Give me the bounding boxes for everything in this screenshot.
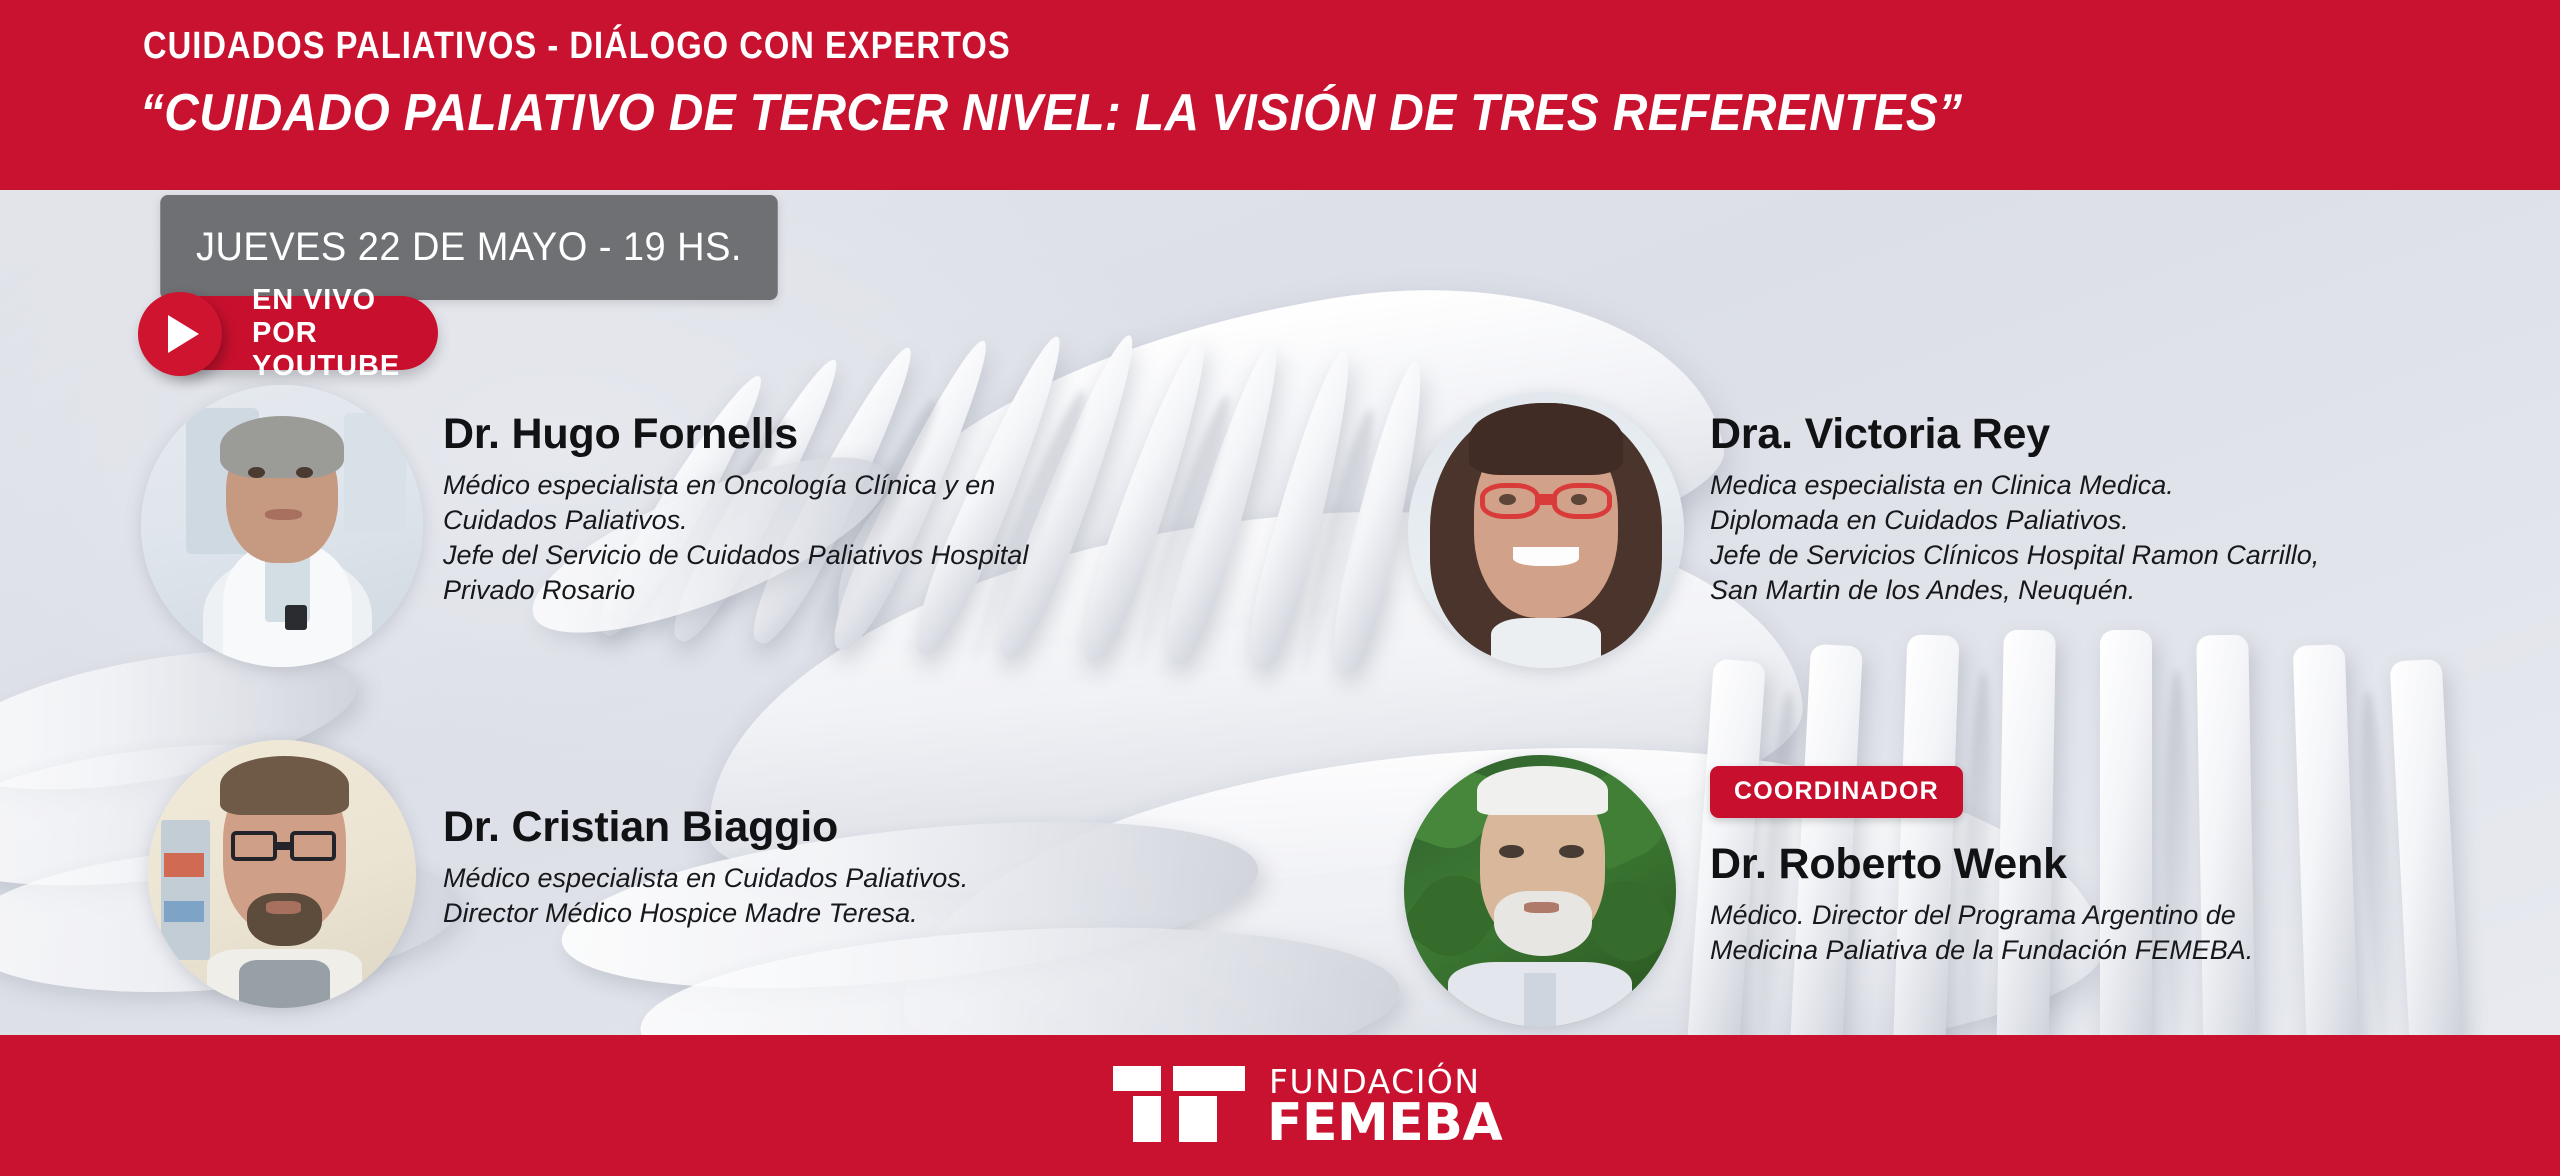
bio-line: Médico. Director del Programa Argentino … [1710, 898, 2253, 933]
bio-line: Medicina Paliativa de la Fundación FEMEB… [1710, 933, 2253, 968]
speaker-name: Dr. Hugo Fornells [443, 410, 798, 459]
femeba-tt-mark-icon [1113, 1060, 1261, 1142]
bio-line: Diplomada en Cuidados Paliativos. [1710, 503, 2319, 538]
speaker-name: Dr. Roberto Wenk [1710, 840, 2067, 889]
bio-line: Privado Rosario [443, 573, 1028, 608]
kicker-text: CUIDADOS PALIATIVOS - DIÁLOGO CON EXPERT… [143, 25, 1011, 68]
bio-line: Jefe de Servicios Clínicos Hospital Ramo… [1710, 538, 2319, 573]
speaker-name: Dr. Cristian Biaggio [443, 803, 838, 852]
bio-line: Jefe del Servicio de Cuidados Paliativos… [443, 538, 1028, 573]
avatar [141, 385, 423, 667]
speaker-name: Dra. Victoria Rey [1710, 410, 2050, 459]
status-badge: COORDINADOR [1710, 766, 1963, 818]
bio-line: Medica especialista en Clinica Medica. [1710, 468, 2319, 503]
speaker-bio: Médico especialista en Cuidados Paliativ… [443, 861, 968, 931]
bio-line: Cuidados Paliativos. [443, 503, 1028, 538]
bio-line: Director Médico Hospice Madre Teresa. [443, 896, 968, 931]
play-icon[interactable] [138, 292, 222, 376]
avatar [1408, 392, 1684, 668]
bio-line: San Martin de los Andes, Neuquén. [1710, 573, 2319, 608]
logo-femeba-text: FEMEBA [1267, 1093, 1502, 1153]
speaker-bio: Medica especialista en Clinica Medica. D… [1710, 468, 2319, 608]
avatar [148, 740, 416, 1008]
bio-line: Médico especialista en Cuidados Paliativ… [443, 861, 968, 896]
header-band: CUIDADOS PALIATIVOS - DIÁLOGO CON EXPERT… [0, 0, 2560, 190]
avatar [1404, 755, 1676, 1027]
speaker-bio: Médico. Director del Programa Argentino … [1710, 898, 2253, 968]
poster-canvas: CUIDADOS PALIATIVOS - DIÁLOGO CON EXPERT… [0, 0, 2560, 1176]
fundacion-femeba-logo: FUNDACIÓN FEMEBA [1113, 1060, 1569, 1142]
page-title: “CUIDADO PALIATIVO DE TERCER NIVEL: LA V… [140, 83, 1962, 143]
bio-line: Médico especialista en Oncología Clínica… [443, 468, 1028, 503]
speaker-bio: Médico especialista en Oncología Clínica… [443, 468, 1028, 608]
logo-wordmark: FUNDACIÓN FEMEBA [1269, 1060, 1569, 1142]
